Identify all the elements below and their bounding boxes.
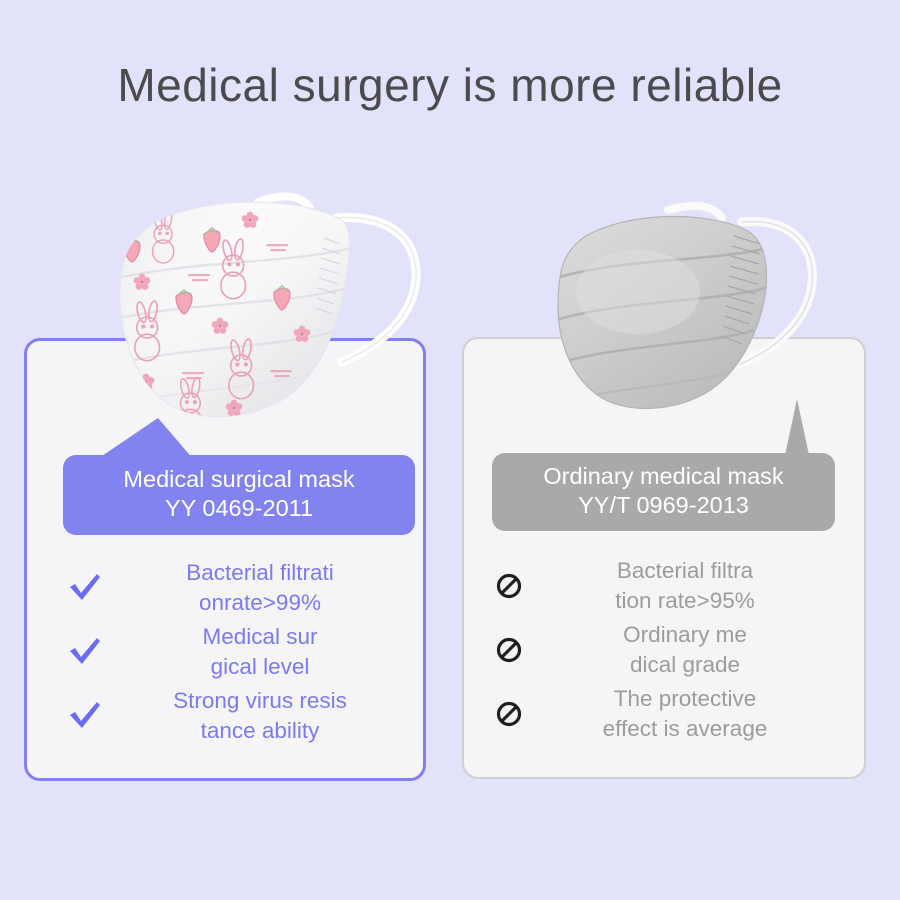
feature-label-line-2: onrate>99% [112,588,408,618]
feature-item: Bacterial filtra tion rate>95% [482,554,834,618]
feature-label-line-2: gical level [112,652,408,682]
check-icon [58,702,112,730]
feature-label: Medical sur gical level [112,622,408,682]
ordinary-medical-mask-feature-list: Bacterial filtra tion rate>95% Ordinary … [482,554,834,746]
prohibited-icon [482,573,536,599]
feature-label-line-1: Bacterial filtrati [186,560,334,585]
feature-label: Strong virus resis tance ability [112,686,408,746]
feature-label-line-1: Medical sur [202,624,317,649]
ordinary-medical-mask-badge: Ordinary medical mask YY/T 0969-2013 [492,453,835,531]
check-icon [58,574,112,602]
feature-item: Ordinary me dical grade [482,618,834,682]
medical-surgical-mask-feature-list: Bacterial filtrati onrate>99% Medical su… [58,556,408,748]
badge-line-1: Ordinary medical mask [502,462,825,491]
feature-label-line-1: Bacterial filtra [617,558,753,583]
feature-item: Strong virus resis tance ability [58,684,408,748]
feature-label: Bacterial filtra tion rate>95% [536,556,834,616]
badge-line-2: YY/T 0969-2013 [502,491,825,520]
feature-label-line-1: Strong virus resis [173,688,347,713]
badge-line-1: Medical surgical mask [73,465,405,494]
prohibited-icon [482,701,536,727]
infographic-stage: Medical surgery is more reliable [0,0,900,900]
feature-label-line-2: effect is average [536,714,834,744]
check-icon [58,638,112,666]
feature-item: Medical sur gical level [58,620,408,684]
feature-label: The protective effect is average [536,684,834,744]
feature-item: The protective effect is average [482,682,834,746]
badge-line-2: YY 0469-2011 [73,494,405,523]
feature-label: Ordinary me dical grade [536,620,834,680]
feature-label: Bacterial filtrati onrate>99% [112,558,408,618]
feature-label-line-1: Ordinary me [623,622,747,647]
feature-label-line-2: dical grade [536,650,834,680]
feature-label-line-2: tance ability [112,716,408,746]
prohibited-icon [482,637,536,663]
page-title: Medical surgery is more reliable [0,58,900,112]
feature-label-line-1: The protective [614,686,757,711]
medical-surgical-mask-badge: Medical surgical mask YY 0469-2011 [63,455,415,535]
feature-label-line-2: tion rate>95% [536,586,834,616]
feature-item: Bacterial filtrati onrate>99% [58,556,408,620]
